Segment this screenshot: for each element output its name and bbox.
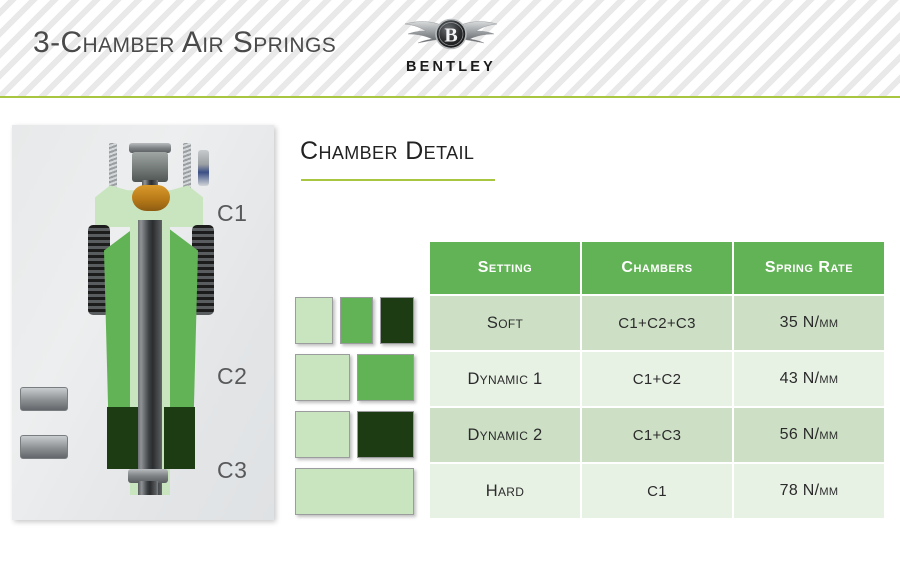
bushing-upper [20, 387, 68, 411]
cell-spring-rate: 43 N/mm [734, 352, 884, 406]
bentley-wordmark: BENTLEY [406, 60, 496, 75]
page-title: 3-Chamber Air Springs [33, 26, 336, 60]
cell-setting: Soft [430, 296, 580, 350]
bentley-logo: B BENTLEY [399, 16, 503, 78]
damper-rod [136, 220, 164, 495]
swatch-c1 [295, 411, 350, 458]
chamber-label-c1: C1 [217, 200, 247, 227]
chamber-c3-right [164, 407, 195, 469]
section-heading: Chamber Detail [300, 137, 474, 166]
section-heading-rule [301, 179, 495, 181]
amber-seal [132, 185, 170, 211]
cell-chambers: C1 [582, 464, 732, 518]
spring-rate-table: Setting Chambers Spring Rate Soft C1+C2+… [428, 240, 886, 520]
swatch-c1 [295, 297, 333, 344]
slide-canvas: 3-Chamber Air Springs B [0, 0, 900, 570]
table-row: Dynamic 2 C1+C3 56 N/mm [430, 408, 884, 462]
swatch-row-soft [295, 297, 414, 344]
swatch-row-dynamic-1 [295, 354, 414, 401]
chamber-c3-left [107, 407, 138, 469]
cell-chambers: C1+C3 [582, 408, 732, 462]
sensor-probe [198, 150, 209, 186]
header-accent-rule [0, 96, 900, 98]
table-row: Hard C1 78 N/mm [430, 464, 884, 518]
cell-setting: Hard [430, 464, 580, 518]
swatch-c1 [295, 468, 414, 515]
swatch-c3 [380, 297, 414, 344]
table-header-row: Setting Chambers Spring Rate [430, 242, 884, 294]
cell-setting: Dynamic 1 [430, 352, 580, 406]
table-row: Dynamic 1 C1+C2 43 N/mm [430, 352, 884, 406]
swatch-row-hard [295, 468, 414, 515]
chamber-label-c3: C3 [217, 457, 247, 484]
column-header-chambers: Chambers [582, 242, 732, 294]
swatch-c2 [357, 354, 414, 401]
cell-spring-rate: 78 N/mm [734, 464, 884, 518]
cell-spring-rate: 35 N/mm [734, 296, 884, 350]
column-header-setting: Setting [430, 242, 580, 294]
bushing-lower [20, 435, 68, 459]
swatch-c3 [357, 411, 414, 458]
cell-chambers: C1+C2 [582, 352, 732, 406]
column-header-spring-rate: Spring Rate [734, 242, 884, 294]
svg-text:B: B [444, 25, 457, 47]
cell-setting: Dynamic 2 [430, 408, 580, 462]
cell-spring-rate: 56 N/mm [734, 408, 884, 462]
swatch-row-dynamic-2 [295, 411, 414, 458]
cell-chambers: C1+C2+C3 [582, 296, 732, 350]
bottom-stem [138, 481, 158, 495]
chamber-swatch-legend [295, 297, 414, 519]
table-row: Soft C1+C2+C3 35 N/mm [430, 296, 884, 350]
swatch-c2 [340, 297, 373, 344]
top-canister [132, 152, 168, 182]
swatch-c1 [295, 354, 350, 401]
bentley-winged-b-icon: B [399, 16, 503, 58]
chamber-label-c2: C2 [217, 363, 247, 390]
